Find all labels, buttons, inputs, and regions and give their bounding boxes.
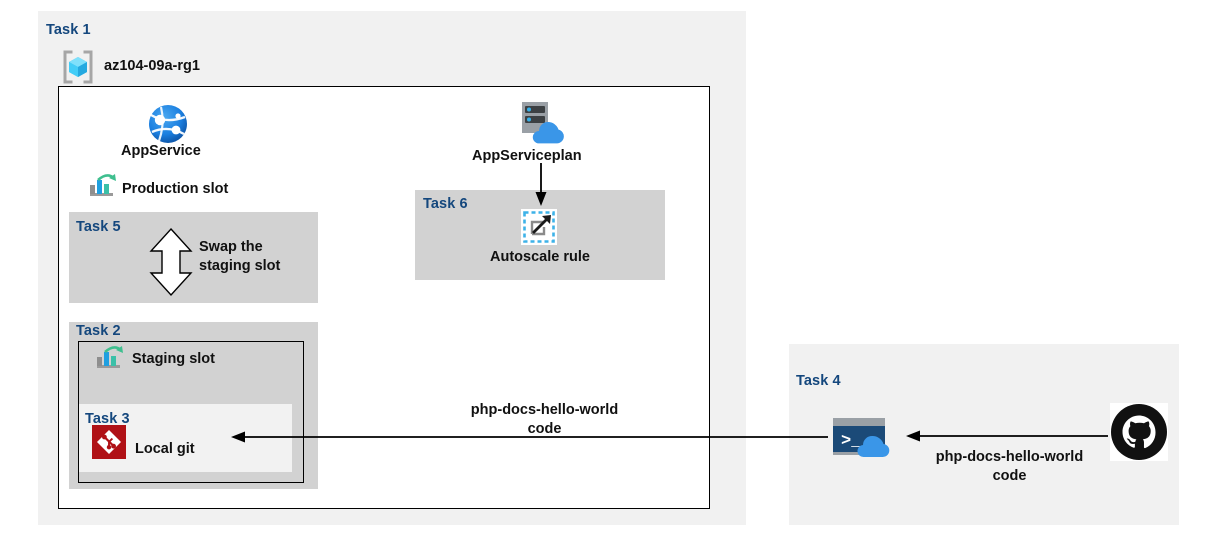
swap-slot-label-line2: staging slot (199, 258, 280, 274)
shell-to-localgit-label-line2: code (528, 421, 562, 437)
resource-group-icon (60, 50, 96, 84)
github-to-shell-label: php-docs-hello-worldcode (917, 448, 1102, 486)
task6-label: Task 6 (423, 196, 468, 212)
diagram-canvas: Task 1 az104-09a-rg1 (0, 0, 1218, 545)
app-service-plan-label: AppServiceplan (472, 147, 582, 166)
deployment-slot-icon-staging (95, 345, 125, 373)
cloud-shell-icon: >_ (833, 415, 903, 461)
deployment-slot-icon-production (88, 173, 118, 201)
staging-slot-label: Staging slot (132, 350, 215, 369)
app-service-icon (146, 104, 190, 144)
task2-label: Task 2 (76, 323, 121, 339)
shell-to-localgit-label: php-docs-hello-worldcode (452, 401, 637, 439)
app-service-plan-icon (515, 100, 567, 146)
swap-up-down-arrow-icon (148, 227, 194, 297)
local-git-label: Local git (135, 440, 195, 459)
swap-slot-label: Swap thestaging slot (199, 238, 319, 276)
task1-label: Task 1 (46, 22, 91, 38)
github-to-shell-label-line1: php-docs-hello-world (936, 449, 1083, 465)
shell-to-localgit-label-line1: php-docs-hello-world (471, 402, 618, 418)
swap-slot-label-line1: Swap the (199, 239, 263, 255)
github-to-shell-label-line2: code (993, 468, 1027, 484)
task5-label: Task 5 (76, 219, 121, 235)
app-service-label: AppService (121, 142, 201, 161)
production-slot-label: Production slot (122, 180, 228, 199)
github-icon (1110, 403, 1168, 461)
autoscale-icon (521, 209, 557, 245)
git-icon (92, 425, 126, 459)
task4-label: Task 4 (796, 373, 841, 389)
resource-group-label: az104-09a-rg1 (104, 57, 200, 76)
autoscale-rule-label: Autoscale rule (490, 248, 590, 267)
